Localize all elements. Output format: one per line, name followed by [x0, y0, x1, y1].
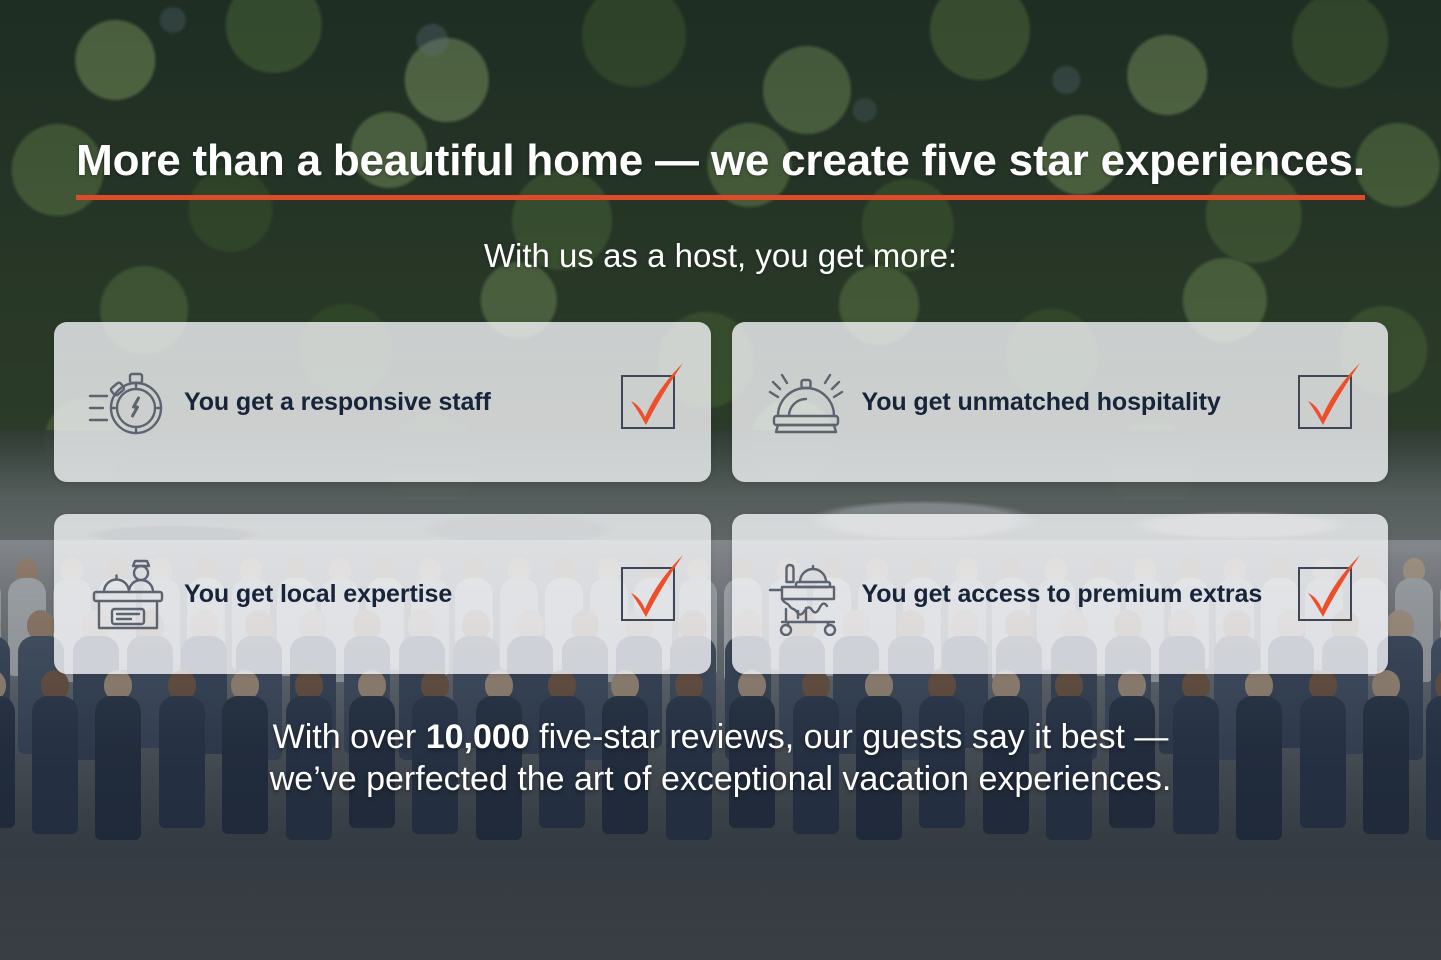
checkmark-checked-icon[interactable]	[621, 567, 675, 621]
benefit-card-label: You get local expertise	[174, 580, 621, 609]
room-service-cart-icon	[760, 552, 852, 636]
benefit-card-label: You get a responsive staff	[174, 388, 621, 417]
footer-line1-prefix: With over	[273, 718, 426, 756]
page-title: More than a beautiful home — we create f…	[76, 136, 1365, 200]
footer-statement: With over 10,000 five-star reviews, our …	[0, 716, 1441, 800]
page-content: More than a beautiful home — we create f…	[0, 0, 1441, 960]
headline-container: More than a beautiful home — we create f…	[0, 136, 1441, 200]
footer-line1-suffix: five-star reviews, our guests say it bes…	[530, 718, 1169, 756]
benefit-card-responsive-staff[interactable]: You get a responsive staff	[54, 322, 711, 482]
concierge-desk-icon	[82, 552, 174, 636]
checkmark-checked-icon[interactable]	[1298, 375, 1352, 429]
stopwatch-bolt-icon	[82, 360, 174, 444]
checkmark-checked-icon[interactable]	[1298, 567, 1352, 621]
benefit-card-premium-extras[interactable]: You get access to premium extras	[732, 514, 1389, 674]
benefit-cards-grid: You get a responsive staff Y	[54, 322, 1388, 674]
footer-review-count: 10,000	[426, 718, 530, 756]
benefit-card-unmatched-hospitality[interactable]: You get unmatched hospitality	[732, 322, 1389, 482]
benefit-card-local-expertise[interactable]: You get local expertise	[54, 514, 711, 674]
subheadline: With us as a host, you get more:	[0, 236, 1441, 276]
footer-line2: we’ve perfected the art of exceptional v…	[270, 760, 1172, 798]
benefit-card-label: You get access to premium extras	[852, 580, 1299, 609]
checkmark-checked-icon[interactable]	[621, 375, 675, 429]
service-bell-icon	[760, 360, 852, 444]
benefit-card-label: You get unmatched hospitality	[852, 388, 1299, 417]
